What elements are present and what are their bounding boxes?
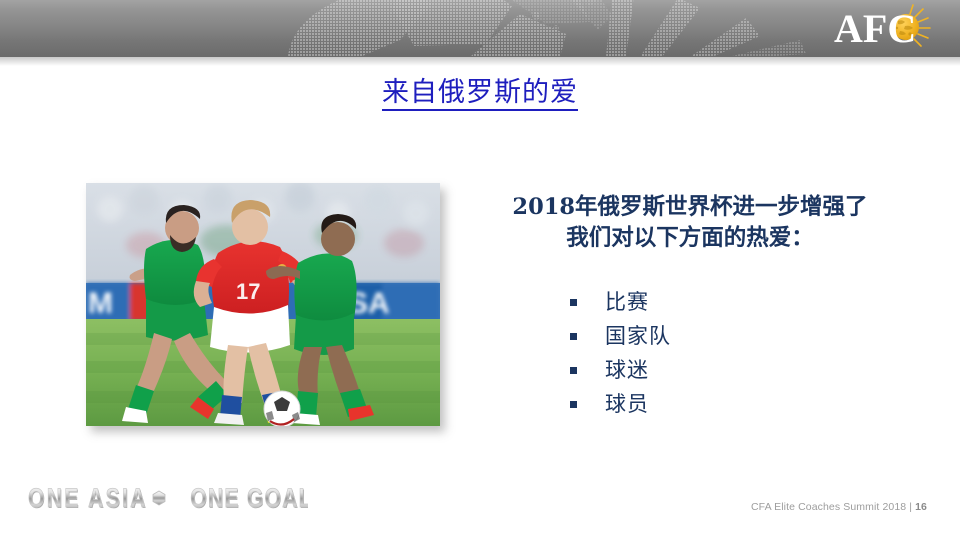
- afc-logo-icon: AFC: [832, 4, 948, 52]
- footer-separator: |: [909, 501, 912, 513]
- body-heading: 2018年俄罗斯世界杯进一步增强了 我们对以下方面的热爱：: [470, 192, 910, 254]
- football-match-photo-image: M SA: [86, 183, 440, 426]
- list-item: 比赛: [470, 285, 910, 319]
- square-bullet-icon: [570, 401, 577, 408]
- footer-page-number: 16: [915, 501, 927, 513]
- footer-credit: CFA Elite Coaches Summit 2018 | 16: [751, 500, 927, 514]
- square-bullet-icon: [570, 367, 577, 374]
- tagline-left: ONE ASIA: [28, 484, 145, 514]
- svg-text:M: M: [88, 287, 113, 320]
- square-bullet-icon: [570, 299, 577, 306]
- page-title: 来自俄罗斯的爱: [0, 76, 960, 110]
- tagline-right: ONE GOAL: [190, 484, 308, 514]
- bullet-list: 比赛 国家队 球迷 球员: [470, 285, 910, 421]
- list-item-label: 国家队: [605, 324, 671, 348]
- list-item-label: 比赛: [605, 290, 649, 314]
- list-item-label: 球迷: [605, 358, 649, 382]
- halftone-football-watermark-icon: [0, 0, 960, 57]
- square-bullet-icon: [570, 333, 577, 340]
- body-heading-line1: 年俄罗斯世界杯进一步增强了: [575, 194, 868, 220]
- hexagon-icon: [153, 491, 165, 505]
- list-item: 球员: [470, 387, 910, 421]
- body-heading-line2: 我们对以下方面的热爱：: [566, 225, 814, 251]
- one-asia-one-goal-logo: ONE ASIA ONE ASIA ONE GOAL ONE GOAL: [28, 481, 308, 517]
- list-item-label: 球员: [605, 392, 649, 416]
- header-band: AFC: [0, 0, 960, 57]
- body-heading-year: 2018: [512, 194, 575, 220]
- footer-credit-text: CFA Elite Coaches Summit 2018: [751, 501, 906, 513]
- header-shadow: [0, 57, 960, 66]
- afc-logo-text: AFC: [834, 6, 916, 51]
- svg-text:17: 17: [236, 279, 260, 304]
- list-item: 国家队: [470, 319, 910, 353]
- football-match-photo: M SA: [86, 183, 440, 426]
- page-title-text: 来自俄罗斯的爱: [382, 77, 578, 111]
- list-item: 球迷: [470, 353, 910, 387]
